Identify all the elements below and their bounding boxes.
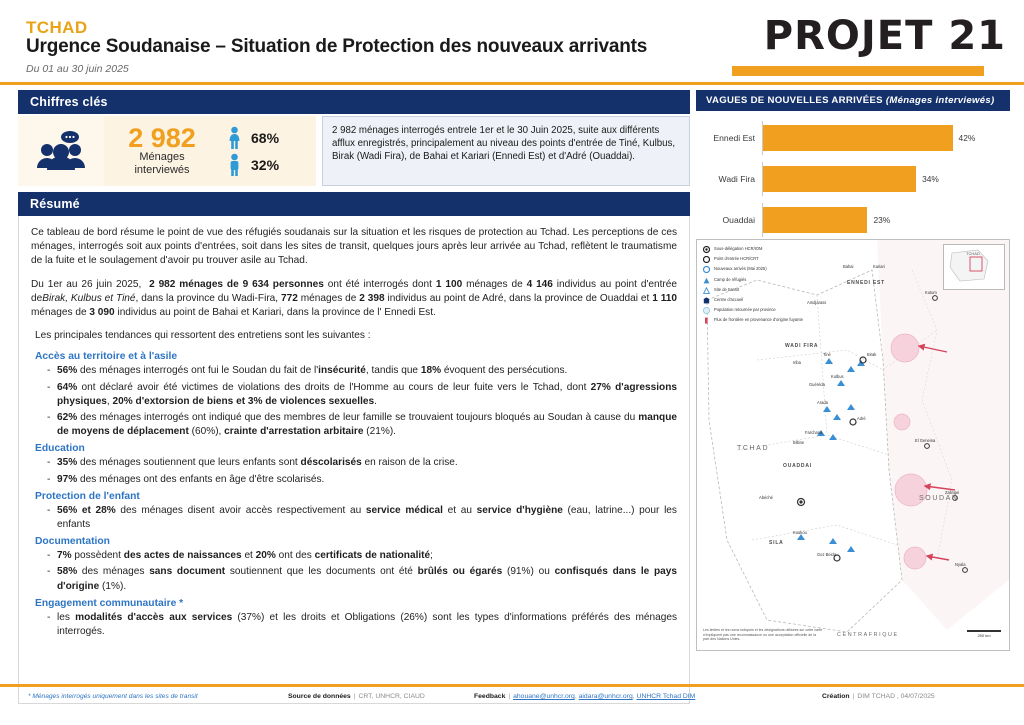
legend-row: Site de transit	[703, 287, 821, 294]
feedback-link-dim[interactable]: UNHCR Tchad DIM	[637, 693, 696, 700]
feedback-email-2[interactable]: aidara@unhcr.org	[579, 693, 633, 700]
section-heading-protection-enfant: Protection de l'enfant	[35, 491, 677, 502]
map-inset-locator: TCHAD	[943, 244, 1005, 290]
resume-body: Ce tableau de bord résume le point de vu…	[18, 216, 690, 704]
section-heading-education: Education	[35, 443, 677, 454]
legend-label: Sous-délégation HCR/IOM	[714, 246, 762, 251]
map-city-guereda: Guéréda	[809, 382, 825, 387]
legend-label: Nouveaux arrivés (Mai 2025)	[714, 266, 767, 271]
map-city-farchana: Farchana	[805, 430, 822, 435]
logo-text: PROJET 21	[714, 14, 1006, 58]
map-city-birak: Birak	[867, 352, 876, 357]
legend-row: Camp de réfugiés	[703, 277, 821, 284]
page-title: Urgence Soudanaise – Situation de Protec…	[26, 36, 647, 58]
header-country: TCHAD	[26, 18, 88, 38]
list-item: 64% ont déclaré avoir été victimes de vi…	[57, 381, 677, 409]
map-label-ennedi-est: ENNEDI EST	[847, 280, 885, 286]
footer-feedback: Feedback|ahouane@unhcr.org, aidara@unhcr…	[474, 693, 695, 700]
map-label-centrafrique: CENTRAFRIQUE	[837, 632, 899, 638]
section-bullets-education: 35% des ménages soutiennent que leurs en…	[31, 456, 677, 486]
bar-value-label: 23%	[873, 215, 890, 225]
sub-delegation-icon	[703, 246, 710, 253]
bar-row-1: Wadi Fira 34%	[696, 162, 1006, 196]
list-item: 35% des ménages soutiennent que leurs en…	[57, 456, 677, 470]
header-period: Du 01 au 30 juin 2025	[26, 63, 129, 75]
page-header: TCHAD Urgence Soudanaise – Situation de …	[0, 0, 1024, 84]
left-column: Chiffres clés 2 982 Ménages interviewés	[18, 90, 690, 680]
new-arrivals-icon	[703, 266, 710, 273]
legend-label: Population retournée par province	[714, 307, 776, 312]
resume-band: Résumé	[18, 192, 690, 216]
female-percent: 68%	[251, 130, 279, 146]
households-count: 2 982 Ménages interviewés	[104, 116, 220, 186]
logo-accent-bar	[732, 66, 984, 76]
female-icon	[228, 126, 241, 150]
section-bullets-documentation: 7% possèdent des actes de naissances et …	[31, 549, 677, 594]
list-item: 56% des ménages interrogés ont fui le So…	[57, 364, 677, 378]
map-city-bahai: Bahai	[843, 264, 853, 269]
projet21-logo: PROJET 21	[714, 14, 1006, 76]
bar-fill	[763, 207, 867, 233]
legend-row: Flux de frontière en provenance d'origin…	[703, 317, 821, 324]
map-city-kariari: Kariari	[873, 264, 885, 269]
list-item: les modalités d'accès aux services (37%)…	[57, 611, 677, 639]
map-label-soudan: SOUDAN	[919, 495, 959, 502]
map-city-iriba: Iriba	[793, 360, 801, 365]
map-city-kutum: Kutum	[925, 290, 937, 295]
footer-divider	[0, 684, 1024, 687]
list-item: 56% et 28% des ménages disent avoir accè…	[57, 504, 677, 532]
transit-site-icon	[703, 287, 710, 294]
bar-value-label: 34%	[922, 174, 939, 184]
resume-paragraph-2: Du 1er au 26 juin 2025, 2 982 ménages de…	[31, 278, 677, 321]
refugee-camp-icon	[703, 277, 710, 284]
list-item: 7% possèdent des actes de naissances et …	[57, 549, 677, 563]
bar-fill	[763, 125, 953, 151]
legend-label: Site de transit	[714, 287, 739, 292]
bar-fill	[763, 166, 916, 192]
legend-label: Point d'entrée HCR/CRT	[714, 256, 759, 261]
bar-row-0: Ennedi Est 42%	[696, 121, 1006, 155]
bar-value-label: 42%	[959, 133, 976, 143]
key-figures-note: 2 982 ménages interrogés entrele 1er et …	[322, 116, 690, 186]
bar-row-2: Ouaddai 23%	[696, 203, 1006, 237]
key-figures-band: Chiffres clés	[18, 90, 690, 114]
map-city-amdjarass: Amdjarass	[807, 300, 826, 305]
households-value: 2 982	[128, 125, 196, 151]
chart-title-italic: (Ménages interviewés)	[886, 95, 995, 106]
returned-population-icon	[703, 307, 710, 314]
gender-breakdown: 68% 32%	[220, 116, 316, 186]
map-city-tine: Tiné	[823, 352, 831, 357]
male-percent: 32%	[251, 157, 279, 173]
legend-row: Centre d'accueil	[703, 297, 821, 304]
creation-label: Création	[822, 693, 850, 700]
map-label-sila: SILA	[769, 540, 784, 546]
source-value: CRT, UNHCR, CIAUD	[358, 693, 424, 700]
key-figures-strip: 2 982 Ménages interviewés 68%	[18, 116, 690, 186]
right-column: VAGUES DE NOUVELLES ARRIVÉES (Ménages in…	[696, 90, 1010, 680]
bar-category-label: Ouaddai	[696, 215, 762, 225]
legend-label: Camp de réfugiés	[714, 277, 746, 282]
footer-note: * Ménages interrogés uniquement dans les…	[28, 693, 198, 700]
scale-line	[967, 630, 1001, 633]
legend-row: Point d'entrée HCR/CRT	[703, 256, 821, 263]
bar-track: 42%	[762, 121, 1006, 155]
male-icon	[228, 153, 241, 177]
bar-category-label: Ennedi Est	[696, 133, 762, 143]
feedback-email-1[interactable]: ahouane@unhcr.org	[513, 693, 575, 700]
bar-category-label: Wadi Fira	[696, 174, 762, 184]
legend-row: Nouveaux arrivés (Mai 2025)	[703, 266, 821, 273]
map-scale: 250 km	[967, 630, 1001, 639]
male-row: 32%	[228, 153, 316, 177]
legend-label: Flux de frontière en provenance d'origin…	[714, 317, 803, 322]
map-label-wadi-fira: WADI FIRA	[785, 343, 818, 349]
legend-row: Population retournée par province	[703, 307, 821, 314]
section-heading-acces: Accès au territoire et à l'asile	[35, 351, 677, 362]
bar-track: 23%	[762, 203, 1006, 237]
map-city-nyala: Nyala	[955, 562, 965, 567]
section-bullets-engagement: les modalités d'accès aux services (37%)…	[31, 611, 677, 639]
section-bullets-acces: 56% des ménages interrogés ont fui le So…	[31, 364, 677, 439]
map-city-koukou: Koukou	[793, 530, 807, 535]
map-city-elgeneina: El Geneina	[915, 438, 935, 443]
resume-lead: Les principales tendances qui ressortent…	[35, 329, 677, 343]
households-group-icon	[18, 116, 104, 186]
svg-text:TCHAD: TCHAD	[966, 251, 980, 256]
map-city-zalingei: Zalingei	[945, 490, 959, 495]
source-label: Source de données	[288, 693, 351, 700]
households-label-2: interviewés	[134, 164, 189, 177]
households-label-1: Ménages	[139, 151, 184, 164]
reception-center-icon	[703, 297, 710, 304]
list-item: 97% des ménages ont des enfants en âge d…	[57, 473, 677, 487]
female-row: 68%	[228, 126, 316, 150]
border-flow-icon	[703, 317, 710, 324]
section-bullets-protection-enfant: 56% et 28% des ménages disent avoir accè…	[31, 504, 677, 532]
chart-title-band: VAGUES DE NOUVELLES ARRIVÉES (Ménages in…	[696, 90, 1010, 111]
map-label-ouaddai: OUADDAI	[783, 463, 812, 469]
map-city-gozbeida: Goz Beida	[817, 552, 836, 557]
footer-source: Source de données|CRT, UNHCR, CIAUD	[288, 693, 425, 700]
feedback-label: Feedback	[474, 693, 505, 700]
map-city-kulbus: Kulbus	[831, 374, 844, 379]
map-label-tchad: TCHAD	[737, 445, 769, 452]
map-legend: Sous-délégation HCR/IOM Point d'entrée H…	[703, 246, 821, 328]
resume-paragraph-1: Ce tableau de bord résume le point de vu…	[31, 226, 677, 269]
page-footer: * Ménages interrogés uniquement dans les…	[0, 690, 1024, 712]
map-city-biltine: Biltine	[793, 440, 804, 445]
chart-title-main: VAGUES DE NOUVELLES ARRIVÉES	[706, 95, 886, 106]
entry-point-icon	[703, 256, 710, 263]
section-heading-documentation: Documentation	[35, 536, 677, 547]
list-item: 62% des ménages interrogés ont indiqué q…	[57, 411, 677, 439]
header-divider	[0, 82, 1024, 85]
legend-row: Sous-délégation HCR/IOM	[703, 246, 821, 253]
section-heading-engagement: Engagement communautaire *	[35, 598, 677, 609]
map-disclaimer: Les limites et les noms indiqués et les …	[703, 628, 823, 642]
map-city-abeche: Abéché	[759, 495, 773, 500]
footer-creation: Création|DIM TCHAD , 04/07/2025	[822, 693, 935, 700]
list-item: 58% des ménages sans document soutiennen…	[57, 565, 677, 593]
legend-label: Centre d'accueil	[714, 297, 743, 302]
arrivals-bar-chart: Ennedi Est 42% Wadi Fira 34% Ouaddai 23%	[696, 111, 1010, 239]
bar-track: 34%	[762, 162, 1006, 196]
scale-text: 250 km	[967, 633, 1001, 638]
situation-map[interactable]: TCHAD Sous-délégation HCR/IOM Point d'en…	[696, 239, 1010, 651]
map-city-adre: Adré	[857, 416, 866, 421]
map-city-arada: Arada	[817, 400, 828, 405]
creation-value: DIM TCHAD , 04/07/2025	[857, 693, 934, 700]
